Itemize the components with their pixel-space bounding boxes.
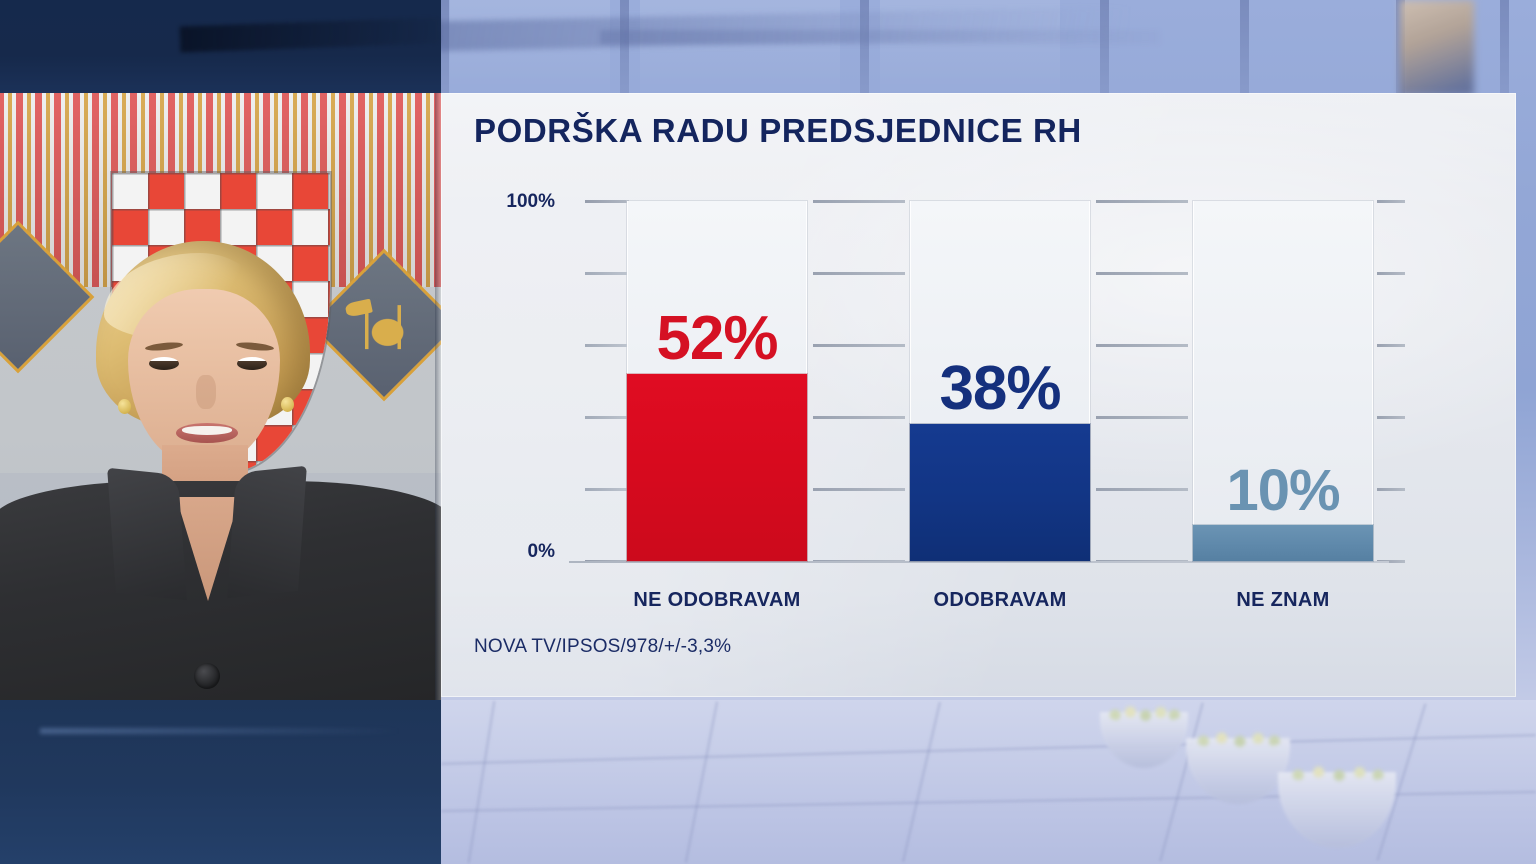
source-caption: NOVA TV/IPSOS/978/+/-3,3% — [474, 636, 731, 658]
bar-value-ne-odobravam: 52% — [627, 303, 807, 374]
gridline-tick — [1096, 416, 1188, 419]
category-label-odobravam: ODOBRAVAM — [890, 589, 1110, 612]
portrait-collar-left — [107, 468, 187, 601]
portrait-collar-right — [227, 466, 307, 599]
bar-odobravam — [910, 424, 1090, 561]
planter-flowers — [1283, 763, 1392, 783]
gridline-tick — [1377, 488, 1405, 491]
poll-graphic-panel: PODRŠKA RADU PREDSJEDNICE RH 100% 0% — [441, 93, 1516, 697]
goat-head — [345, 299, 373, 318]
goat-emblem-icon — [356, 305, 414, 349]
portrait-nose — [196, 375, 216, 409]
portrait-jacket-button — [194, 663, 220, 689]
portrait-eye-left — [149, 357, 179, 370]
y-tick-20 — [585, 488, 629, 491]
president-portrait-photo — [0, 93, 441, 700]
background-blur-object — [1400, 0, 1474, 96]
gridline-tick — [1096, 488, 1188, 491]
background-glint — [40, 728, 400, 734]
portrait-bottom-band — [0, 700, 441, 864]
planter-flowers — [1190, 729, 1286, 749]
gridline-tick — [1377, 416, 1405, 419]
gridline-tick — [1377, 200, 1405, 203]
category-label-ne-odobravam: NE ODOBRAVAM — [607, 589, 827, 612]
background-ridge — [180, 17, 441, 52]
planter-flowers — [1104, 703, 1185, 723]
gridline-tick — [1377, 344, 1405, 347]
x-axis-baseline — [569, 561, 1389, 563]
portrait-earring-right — [281, 397, 294, 412]
background-roofline — [600, 30, 1160, 44]
bar-value-ne-znam: 10% — [1193, 457, 1373, 524]
y-tick-100 — [585, 200, 629, 203]
gridline-tick — [813, 200, 905, 203]
gridline-tick — [1096, 200, 1188, 203]
portrait-eye-right — [237, 357, 267, 370]
y-tick-60 — [585, 344, 629, 347]
gridline-tick — [813, 272, 905, 275]
gridline-tick — [813, 344, 905, 347]
portrait-earring-left — [118, 399, 131, 414]
gridline-tick — [813, 416, 905, 419]
portrait-teeth — [182, 426, 232, 435]
portrait-top-band — [0, 0, 441, 93]
y-axis-label-max: 100% — [461, 191, 555, 213]
gridline-tick — [1096, 272, 1188, 275]
y-tick-40 — [585, 416, 629, 419]
category-label-ne-znam: NE ZNAM — [1173, 589, 1393, 612]
bar-value-odobravam: 38% — [910, 353, 1090, 424]
bar-ne-znam — [1193, 525, 1373, 561]
bar-ne-odobravam — [627, 374, 807, 561]
gridline-tick — [813, 488, 905, 491]
gridline-tick — [1377, 272, 1405, 275]
y-axis-label-min: 0% — [461, 541, 555, 563]
bar-chart: 100% 0% — [441, 93, 1516, 697]
gridline-tick — [1096, 344, 1188, 347]
y-tick-80 — [585, 272, 629, 275]
